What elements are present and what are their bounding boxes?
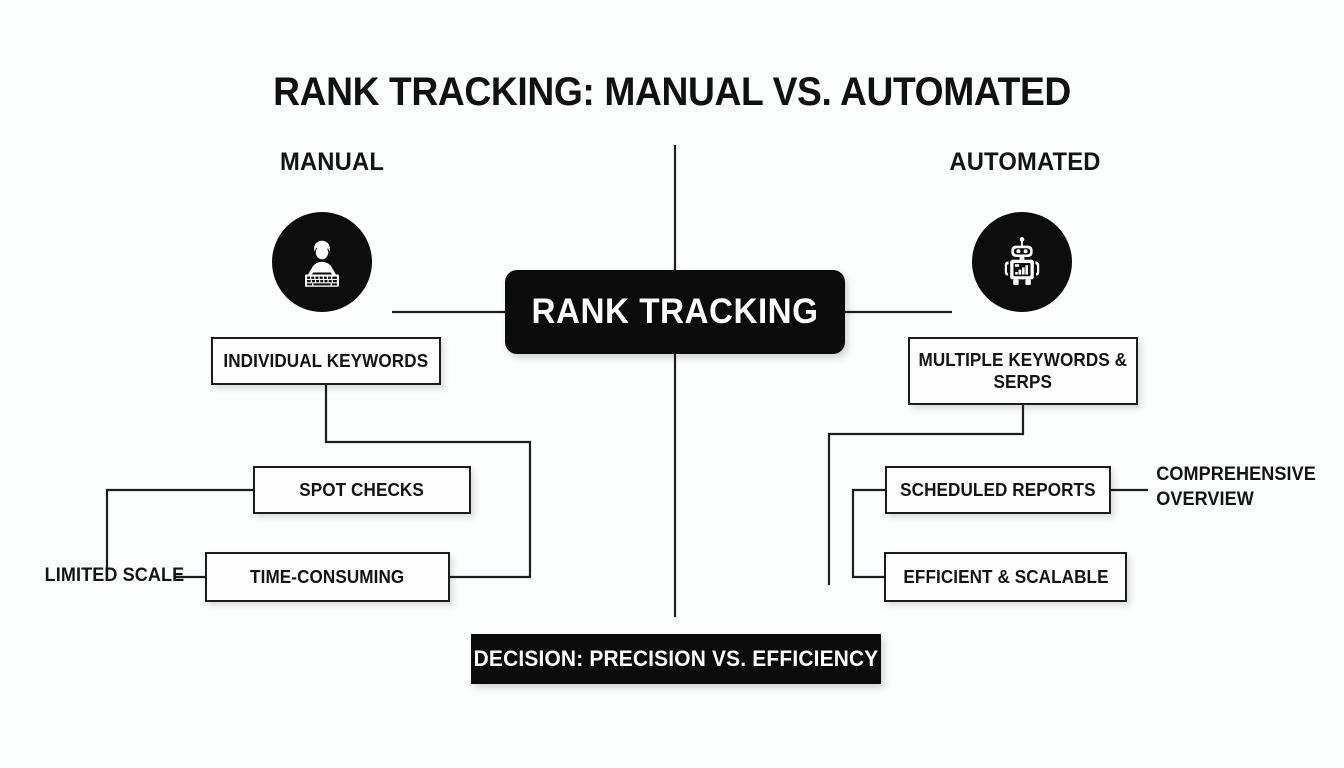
node-label: MULTIPLE KEYWORDS & SERPS [919, 349, 1128, 394]
robot-chart-icon [972, 212, 1072, 312]
node-label: INDIVIDUAL KEYWORDS [224, 350, 429, 373]
outcome-label-limited-scale: LIMITED SCALE [45, 564, 185, 589]
node-scheduled-reports[interactable]: SCHEDULED REPORTS [885, 466, 1111, 514]
node-label: EFFICIENT & SCALABLE [903, 566, 1108, 589]
branch-heading-automated: AUTOMATED [927, 148, 1123, 177]
node-label: TIME-CONSUMING [250, 566, 404, 589]
page-title: RANK TRACKING: MANUAL VS. AUTOMATED [47, 70, 1297, 115]
footer-label: DECISION: PRECISION VS. EFFICIENCY [474, 646, 879, 672]
node-time-consuming[interactable]: TIME-CONSUMING [205, 552, 450, 602]
person-typing-keyboard-icon [272, 212, 372, 312]
diagram-canvas: RANK TRACKING: MANUAL VS. AUTOMATED MANU… [0, 0, 1344, 768]
node-label: SCHEDULED REPORTS [900, 479, 1095, 502]
branch-heading-manual: MANUAL [237, 148, 427, 177]
node-individual-keywords[interactable]: INDIVIDUAL KEYWORDS [211, 337, 441, 385]
outcome-label-comprehensive-overview: COMPREHENSIVE OVERVIEW [1156, 463, 1316, 512]
wire-right-inner-rail [853, 490, 885, 577]
node-efficient-scalable[interactable]: EFFICIENT & SCALABLE [884, 552, 1127, 602]
node-multiple-keywords-serps[interactable]: MULTIPLE KEYWORDS & SERPS [908, 337, 1138, 405]
node-label: SPOT CHECKS [300, 479, 425, 502]
footer-banner-decision[interactable]: DECISION: PRECISION VS. EFFICIENCY [471, 634, 881, 684]
node-spot-checks[interactable]: SPOT CHECKS [253, 466, 471, 514]
hub-label: RANK TRACKING [532, 292, 819, 332]
hub-node-rank-tracking[interactable]: RANK TRACKING [505, 270, 845, 354]
